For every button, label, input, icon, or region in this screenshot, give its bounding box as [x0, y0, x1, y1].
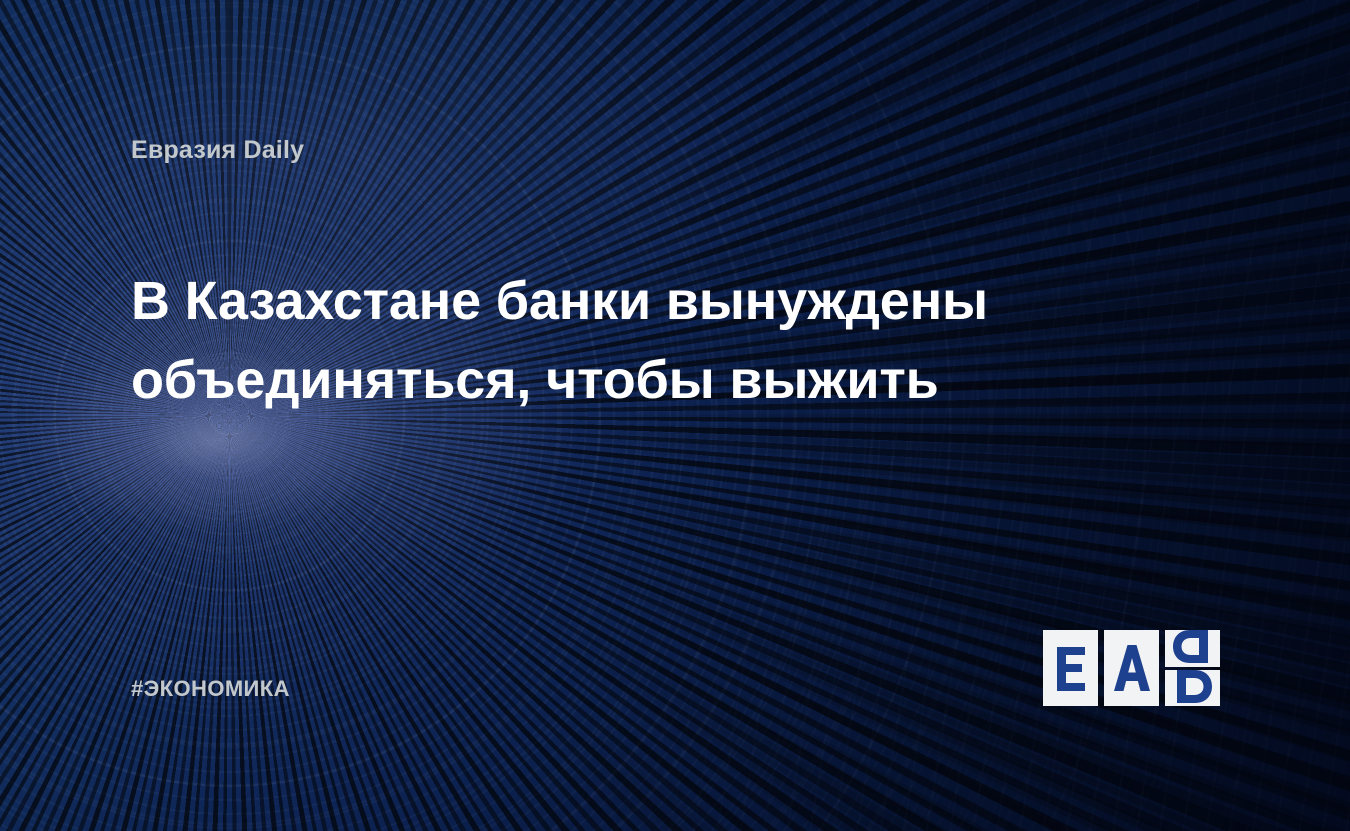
site-name: Евразия Daily	[131, 136, 304, 165]
logo-tile-e	[1043, 630, 1098, 706]
logo-tile-a	[1104, 630, 1159, 706]
article-headline: В Казахстане банки вынуждены объединятьс…	[131, 262, 1061, 420]
logo-monogram-lower-half	[1165, 670, 1220, 707]
card-content: Евразия Daily В Казахстане банки вынужде…	[0, 0, 1350, 831]
article-share-card: Евразия Daily В Казахстане банки вынужде…	[0, 0, 1350, 831]
logo-monogram-upper-half	[1165, 630, 1220, 667]
eadaily-logo[interactable]	[1043, 630, 1221, 706]
logo-tile-d-monogram	[1165, 630, 1220, 706]
rubric-tag-economics: #ЭКОНОМИКА	[131, 676, 290, 702]
